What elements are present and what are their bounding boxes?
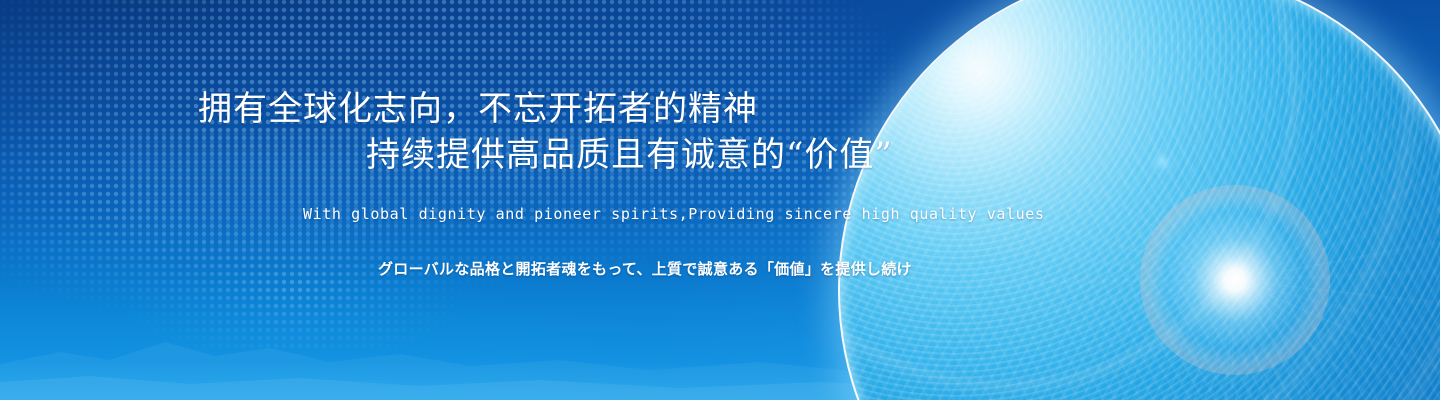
hero-banner: 拥有全球化志向，不忘开拓者的精神 持续提供高品质且有诚意的“价值” With g… bbox=[0, 0, 1440, 400]
headline: 拥有全球化志向，不忘开拓者的精神 持续提供高品质且有诚意的“价值” bbox=[198, 86, 958, 178]
subheadline-english: With global dignity and pioneer spirits,… bbox=[303, 205, 1045, 223]
subheadline-japanese: グローバルな品格と開拓者魂をもって、上質で誠意ある「価値」を提供し続け bbox=[378, 258, 912, 279]
headline-line-2: 持续提供高品质且有诚意的“价值” bbox=[198, 132, 958, 178]
headline-line-1: 拥有全球化志向，不忘开拓者的精神 bbox=[198, 89, 758, 129]
lens-flare-dot-icon bbox=[1147, 147, 1177, 177]
banner-copy: 拥有全球化志向，不忘开拓者的精神 持续提供高品质且有诚意的“价值” With g… bbox=[0, 0, 1100, 400]
